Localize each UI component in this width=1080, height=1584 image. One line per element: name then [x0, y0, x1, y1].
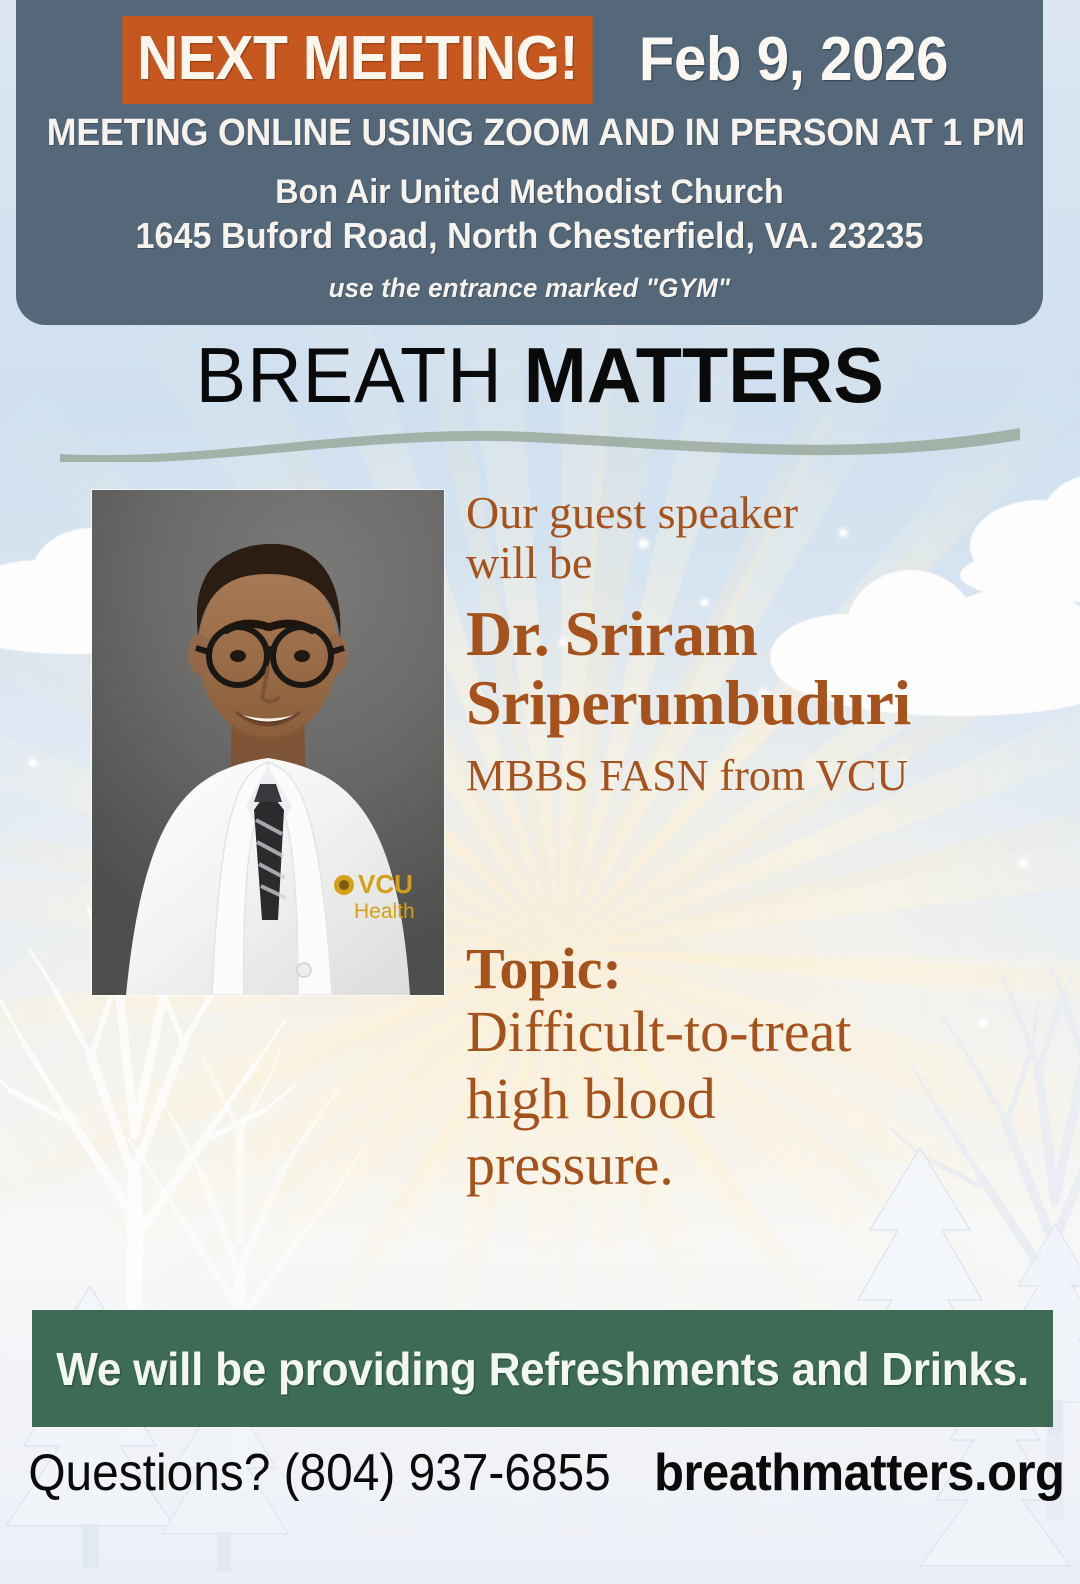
- meeting-header-panel: NEXT MEETING! Feb 9, 2026 MEETING ONLINE…: [16, 0, 1043, 325]
- speaker-intro-line1: Our guest speaker: [466, 488, 1026, 538]
- snow-sparkle: [1020, 860, 1026, 866]
- speaker-name-line1: Dr. Sriram: [466, 599, 1026, 668]
- meeting-mode-line: MEETING ONLINE USING ZOOM AND IN PERSON …: [47, 114, 1012, 154]
- logo-wordmark: BREATH MATTERS: [196, 336, 884, 414]
- speaker-info-block: Our guest speaker will be Dr. Sriram Sri…: [466, 488, 1026, 800]
- snow-sparkle: [60, 600, 67, 607]
- footer: Questions? (804) 937-6855 breathmatters.…: [0, 1432, 1080, 1501]
- logo-word-matters: MATTERS: [503, 331, 884, 419]
- speaker-credentials: MBBS FASN from VCU: [466, 752, 1026, 800]
- topic-line2: high blood: [466, 1066, 1046, 1132]
- photo-portrait-illustration: VCU Health: [92, 490, 444, 995]
- svg-text:VCU: VCU: [358, 869, 413, 899]
- logo-word-breath: BREATH: [196, 331, 503, 419]
- venue-name: Bon Air United Methodist Church: [42, 174, 1018, 211]
- meeting-date: Feb 9, 2026: [639, 29, 948, 91]
- footer-website[interactable]: breathmatters.org: [654, 1446, 1064, 1501]
- topic-label: Topic:: [466, 938, 1046, 999]
- speaker-intro-line2: will be: [466, 538, 1026, 588]
- svg-text:Health: Health: [354, 900, 415, 923]
- topic-line3: pressure.: [466, 1132, 1046, 1198]
- speaker-photo: VCU Health: [92, 490, 444, 995]
- meeting-title-row: NEXT MEETING! Feb 9, 2026: [16, 0, 1043, 104]
- topic-line1: Difficult-to-treat: [466, 999, 1046, 1065]
- speaker-name-line2: Sriperumbuduri: [466, 668, 1026, 737]
- venue-entrance-note: use the entrance marked "GYM": [37, 273, 1023, 304]
- speaker-name: Dr. Sriram Sriperumbuduri: [466, 599, 1026, 737]
- topic-block: Topic: Difficult-to-treat high blood pre…: [466, 938, 1046, 1198]
- logo-swoosh-icon: [60, 418, 1020, 462]
- topic-text: Difficult-to-treat high blood pressure.: [466, 999, 1046, 1197]
- breath-matters-logo: BREATH MATTERS: [0, 336, 1080, 461]
- flyer-poster: NEXT MEETING! Feb 9, 2026 MEETING ONLINE…: [0, 0, 1080, 1584]
- snow-sparkle: [30, 760, 36, 766]
- next-meeting-badge: NEXT MEETING!: [122, 16, 592, 104]
- footer-questions-phone: Questions? (804) 937-6855: [28, 1446, 610, 1501]
- refreshments-banner: We will be providing Refreshments and Dr…: [32, 1310, 1053, 1427]
- venue-address: 1645 Buford Road, North Chesterfield, VA…: [42, 215, 1018, 256]
- refreshments-text: We will be providing Refreshments and Dr…: [56, 1346, 1029, 1392]
- speaker-intro: Our guest speaker will be: [466, 488, 1026, 587]
